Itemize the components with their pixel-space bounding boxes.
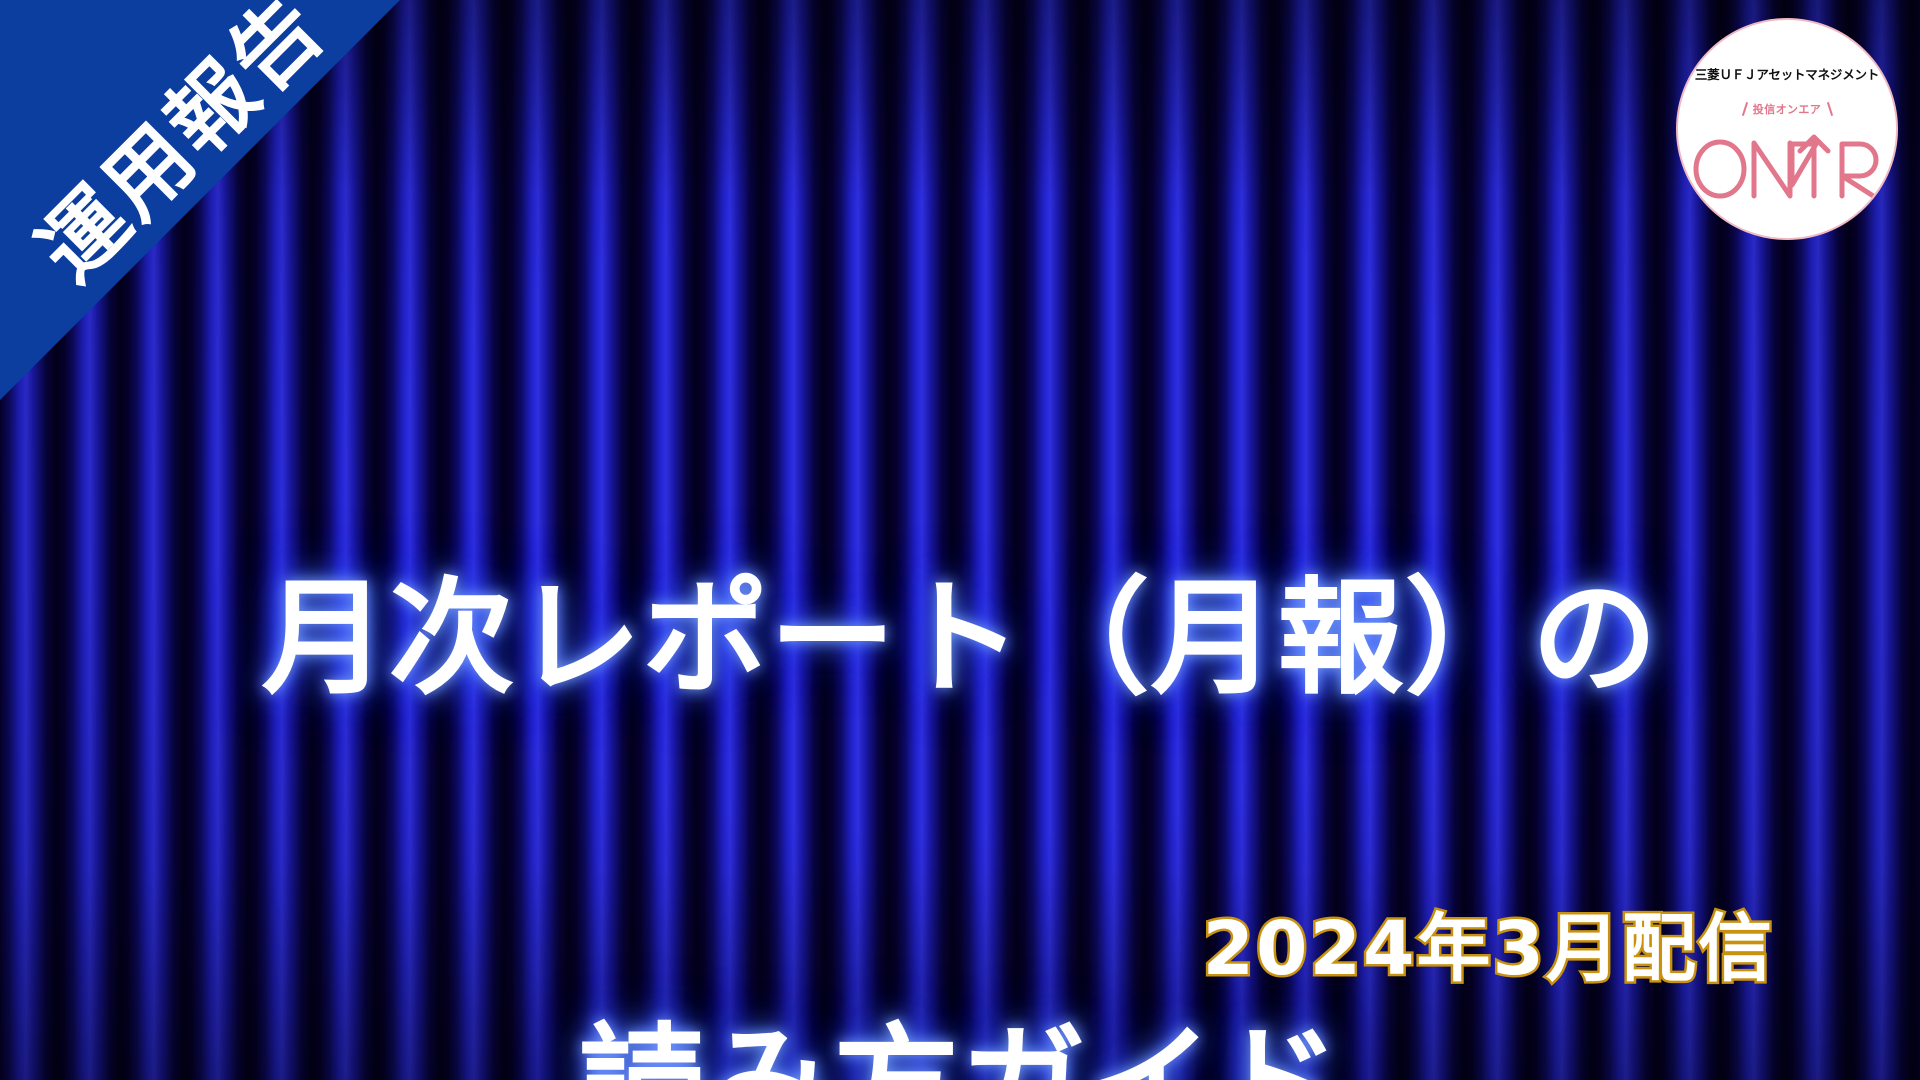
company-name-text: 三菱ＵＦＪアセットマネジメント [1695, 64, 1879, 83]
slash-left-icon [1740, 102, 1749, 116]
onair-wordmark [1678, 113, 1896, 201]
release-date-text: 2024年3月配信 [1203, 912, 1774, 986]
onair-logo-icon [1692, 113, 1882, 201]
brand-logo-badge: 三菱ＵＦＪアセットマネジメント 投信オンエア [1676, 18, 1898, 240]
thumbnail-card: 運用報告 三菱ＵＦＪアセットマネジメント 投信オンエア [0, 0, 1920, 1080]
title-line-1: 月次レポート（月報）の [0, 565, 1920, 714]
slash-right-icon [1825, 102, 1834, 116]
title-line-2: 読み方ガイド [0, 1011, 1920, 1080]
